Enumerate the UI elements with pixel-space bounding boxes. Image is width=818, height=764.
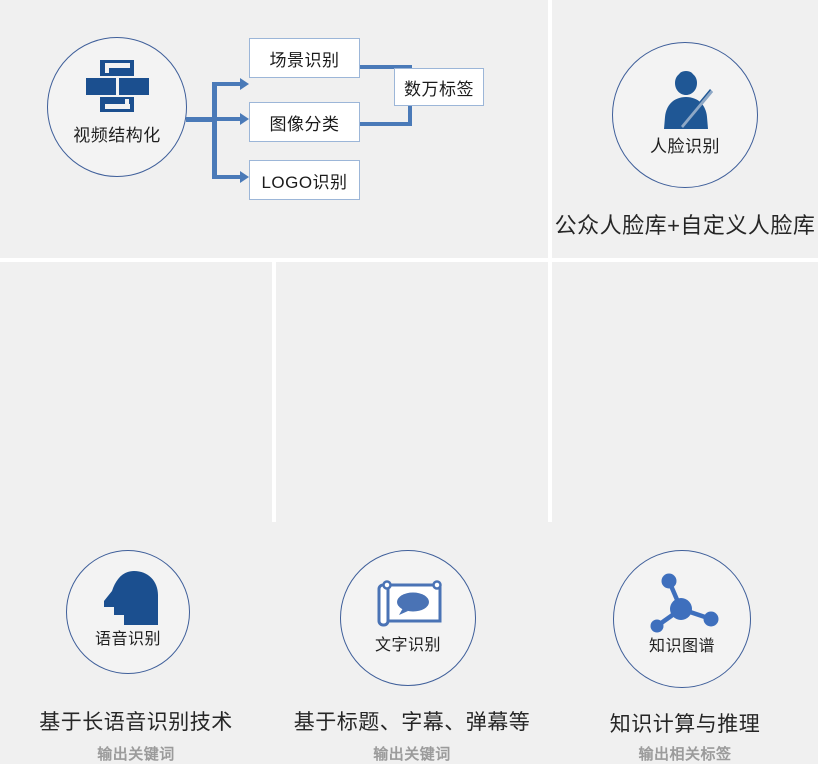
panel-speech-recognition: 语音识别 基于长语音识别技术 输出关键词 <box>0 262 272 522</box>
knowledge-graph-icon <box>643 569 723 635</box>
speech-recognition-label: 语音识别 <box>67 625 189 649</box>
face-recognition-label: 人脸识别 <box>613 132 757 157</box>
text-recognition-subcaption: 输出关键词 <box>276 743 548 764</box>
speech-recognition-subcaption: 输出关键词 <box>0 743 272 764</box>
knowledge-graph-node[interactable]: 知识图谱 <box>613 550 751 688</box>
flow-box-scene-recognition[interactable]: 场景识别 <box>249 38 360 78</box>
speech-recognition-caption: 基于长语音识别技术 <box>0 706 272 736</box>
knowledge-graph-label: 知识图谱 <box>614 632 750 656</box>
video-notch-4 <box>125 99 129 109</box>
arrowhead-scene <box>240 78 249 90</box>
video-bar-mid-right <box>119 78 149 95</box>
text-recognition-label: 文字识别 <box>341 631 475 655</box>
flow-box-image-classification[interactable]: 图像分类 <box>249 102 360 142</box>
banner-speech-icon <box>375 577 445 633</box>
video-notch-2 <box>105 63 109 73</box>
flow-box-logo-recognition[interactable]: LOGO识别 <box>249 160 360 200</box>
flow-box-tens-of-thousands-tags[interactable]: 数万标签 <box>394 68 484 106</box>
video-structuring-node[interactable]: 视频结构化 <box>47 37 187 177</box>
video-structuring-label: 视频结构化 <box>48 121 186 146</box>
knowledge-graph-caption: 知识计算与推理 <box>552 708 818 738</box>
text-recognition-node[interactable]: 文字识别 <box>340 550 476 686</box>
person-scan-icon <box>653 68 719 130</box>
speaking-head-icon <box>98 569 160 627</box>
face-recognition-node[interactable]: 人脸识别 <box>612 42 758 188</box>
connector-merge-from-image <box>360 122 412 126</box>
arrowhead-image <box>240 113 249 125</box>
capability-overview-board: 视频结构化 场景识别 图像分类 LOGO识别 数万标签 <box>0 0 818 522</box>
panel-video-structuring: 视频结构化 场景识别 图像分类 LOGO识别 数万标签 <box>0 0 548 258</box>
speech-recognition-node[interactable]: 语音识别 <box>66 550 190 674</box>
video-structure-icon <box>86 60 152 112</box>
connector-distributor <box>212 82 217 179</box>
knowledge-graph-subcaption: 输出相关标签 <box>552 743 818 764</box>
panel-text-recognition: 文字识别 基于标题、字幕、弹幕等 输出关键词 <box>276 262 548 522</box>
face-recognition-caption: 公众人脸库+自定义人脸库 <box>552 208 818 240</box>
text-recognition-caption: 基于标题、字幕、弹幕等 <box>276 706 548 736</box>
arrowhead-logo <box>240 171 249 183</box>
panel-face-recognition: 人脸识别 公众人脸库+自定义人脸库 <box>552 0 818 258</box>
video-bar-mid-left <box>86 78 116 95</box>
panel-knowledge-graph: 知识图谱 知识计算与推理 输出相关标签 <box>552 262 818 522</box>
